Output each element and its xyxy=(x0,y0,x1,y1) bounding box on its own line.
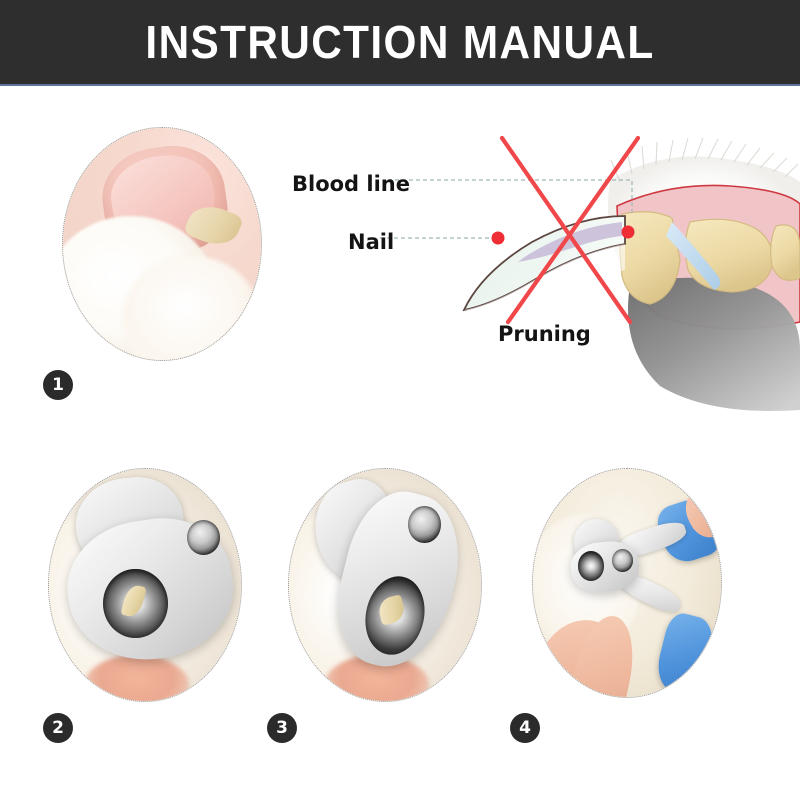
nail-region xyxy=(464,216,625,311)
clipper-screw xyxy=(612,549,633,572)
clipper-in-hand-photo xyxy=(533,469,721,697)
step-2-photo xyxy=(48,468,242,702)
header-underline-divider xyxy=(0,84,800,86)
clipper-screw xyxy=(408,506,441,543)
step-badge-1: 1 xyxy=(43,370,73,400)
page-title: INSTRUCTION MANUAL xyxy=(32,0,768,84)
step-4-photo xyxy=(532,468,722,698)
step-1-photo xyxy=(62,127,262,361)
label-blood-line: Blood line xyxy=(292,172,410,196)
step-badge-2: 2 xyxy=(43,713,73,743)
step-3-photo xyxy=(288,468,482,702)
blood-dot-nail xyxy=(492,232,505,245)
step-badge-4: 4 xyxy=(510,713,540,743)
rabbit-paw-with-claw-photo xyxy=(63,128,261,360)
step-badge-3: 3 xyxy=(267,713,297,743)
clipper-aperture xyxy=(578,551,604,581)
instruction-manual-page: INSTRUCTION MANUAL 1 xyxy=(0,0,800,800)
label-pruning: Pruning xyxy=(498,322,591,346)
clipper-angled-closeup-photo xyxy=(289,469,481,701)
clipper-screw xyxy=(187,520,220,555)
clipper-aperture-closeup-photo xyxy=(49,469,241,701)
blood-dot-quick xyxy=(622,226,635,239)
nail-anatomy-diagram: Blood line Nail Pruning xyxy=(280,110,800,420)
diagram-svg xyxy=(280,110,800,420)
label-nail: Nail xyxy=(348,230,394,254)
